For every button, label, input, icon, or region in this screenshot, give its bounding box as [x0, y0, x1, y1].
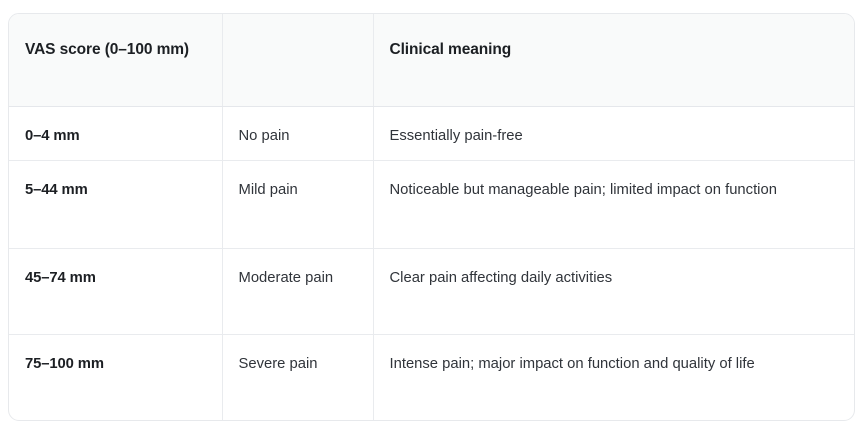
cell-vas-score: 75–100 mm	[9, 334, 222, 421]
cell-pain-category: No pain	[222, 106, 373, 160]
cell-pain-category: Severe pain	[222, 334, 373, 421]
cell-pain-category: Mild pain	[222, 160, 373, 248]
cell-pain-category: Moderate pain	[222, 248, 373, 334]
column-header-vas-score: VAS score (0–100 mm)	[9, 14, 222, 106]
table-header-row: VAS score (0–100 mm) Clinical meaning	[9, 14, 854, 106]
cell-clinical-meaning: Noticeable but manageable pain; limited …	[373, 160, 854, 248]
cell-clinical-meaning: Essentially pain-free	[373, 106, 854, 160]
table-row: 5–44 mm Mild pain Noticeable but managea…	[9, 160, 854, 248]
cell-vas-score: 5–44 mm	[9, 160, 222, 248]
table-row: 0–4 mm No pain Essentially pain-free	[9, 106, 854, 160]
table-header: VAS score (0–100 mm) Clinical meaning	[9, 14, 854, 106]
cell-clinical-meaning: Clear pain affecting daily activities	[373, 248, 854, 334]
column-header-clinical-meaning: Clinical meaning	[373, 14, 854, 106]
cell-clinical-meaning: Intense pain; major impact on function a…	[373, 334, 854, 421]
table-body: 0–4 mm No pain Essentially pain-free 5–4…	[9, 106, 854, 421]
vas-score-table-container: VAS score (0–100 mm) Clinical meaning 0–…	[8, 13, 855, 421]
table-row: 75–100 mm Severe pain Intense pain; majo…	[9, 334, 854, 421]
cell-vas-score: 0–4 mm	[9, 106, 222, 160]
table-row: 45–74 mm Moderate pain Clear pain affect…	[9, 248, 854, 334]
column-header-empty	[222, 14, 373, 106]
vas-score-table: VAS score (0–100 mm) Clinical meaning 0–…	[9, 14, 854, 421]
cell-vas-score: 45–74 mm	[9, 248, 222, 334]
